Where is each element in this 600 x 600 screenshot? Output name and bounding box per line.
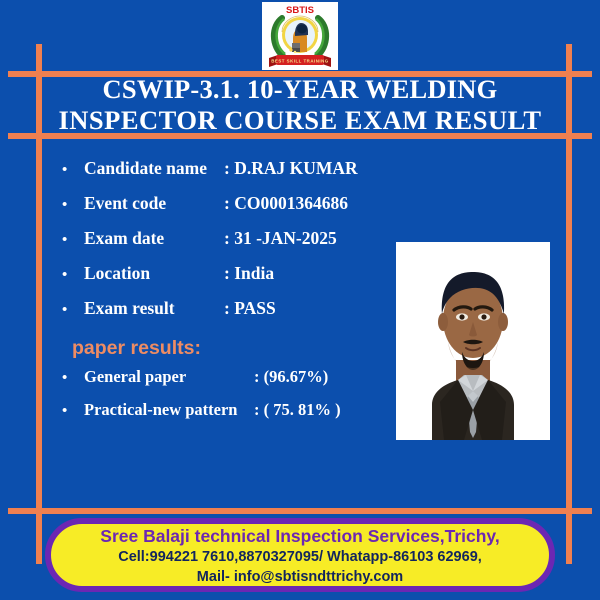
candidate-portrait-image <box>396 242 550 440</box>
candidate-details-list: Candidate name : D.RAJ KUMAR Event code … <box>62 158 392 333</box>
bullet-icon <box>62 233 84 248</box>
paper-label: General paper <box>84 367 254 387</box>
company-name: Sree Balaji technical Inspection Service… <box>100 525 499 547</box>
sbtis-logo: SBTIS BEST SKILL TRAINING <box>262 2 338 70</box>
detail-label: Exam date <box>84 228 224 249</box>
detail-value: : PASS <box>224 298 392 319</box>
list-item: Practical-new pattern : ( 75. 81% ) <box>62 400 392 433</box>
paper-results-list: General paper : (96.67%) Practical-new p… <box>62 367 392 433</box>
paper-value: : (96.67%) <box>254 367 392 387</box>
list-item: Location : India <box>62 263 392 298</box>
detail-label: Exam result <box>84 298 224 319</box>
exam-result-poster: SBTIS BEST SKILL TRAINING <box>0 0 600 600</box>
svg-text:SBTIS: SBTIS <box>286 5 314 16</box>
bullet-icon <box>62 303 84 318</box>
candidate-photo <box>396 242 550 440</box>
sbtis-logo-icon: SBTIS BEST SKILL TRAINING <box>262 2 338 70</box>
paper-label: Practical-new pattern <box>84 400 254 420</box>
detail-label: Event code <box>84 193 224 214</box>
list-item: Exam result : PASS <box>62 298 392 333</box>
bullet-icon <box>62 404 84 419</box>
detail-value: : CO0001364686 <box>224 193 392 214</box>
list-item: General paper : (96.67%) <box>62 367 392 400</box>
detail-label: Location <box>84 263 224 284</box>
bullet-icon <box>62 198 84 213</box>
bullet-icon <box>62 371 84 386</box>
bullet-icon <box>62 268 84 283</box>
list-item: Event code : CO0001364686 <box>62 193 392 228</box>
frame-line-bottom <box>8 508 592 514</box>
page-title-line2: INSPECTOR COURSE EXAM RESULT <box>40 105 560 136</box>
svg-text:BEST SKILL TRAINING: BEST SKILL TRAINING <box>271 59 329 64</box>
list-item: Exam date : 31 -JAN-2025 <box>62 228 392 263</box>
detail-value: : D.RAJ KUMAR <box>224 158 392 179</box>
paper-results-heading: paper results: <box>72 337 201 360</box>
frame-line-right <box>566 44 572 564</box>
paper-value: : ( 75. 81% ) <box>254 400 392 420</box>
page-title-line1: CSWIP-3.1. 10-YEAR WELDING <box>40 74 560 105</box>
page-title: CSWIP-3.1. 10-YEAR WELDING INSPECTOR COU… <box>40 74 560 136</box>
contact-banner: Sree Balaji technical Inspection Service… <box>45 518 555 592</box>
list-item: Candidate name : D.RAJ KUMAR <box>62 158 392 193</box>
contact-email: Mail- info@sbtisndttrichy.com <box>197 567 403 587</box>
detail-label: Candidate name <box>84 158 224 179</box>
bullet-icon <box>62 163 84 178</box>
detail-value: : India <box>224 263 392 284</box>
detail-value: : 31 -JAN-2025 <box>224 228 392 249</box>
contact-phone: Cell:994221 7610,8870327095/ Whatapp-861… <box>118 547 482 567</box>
